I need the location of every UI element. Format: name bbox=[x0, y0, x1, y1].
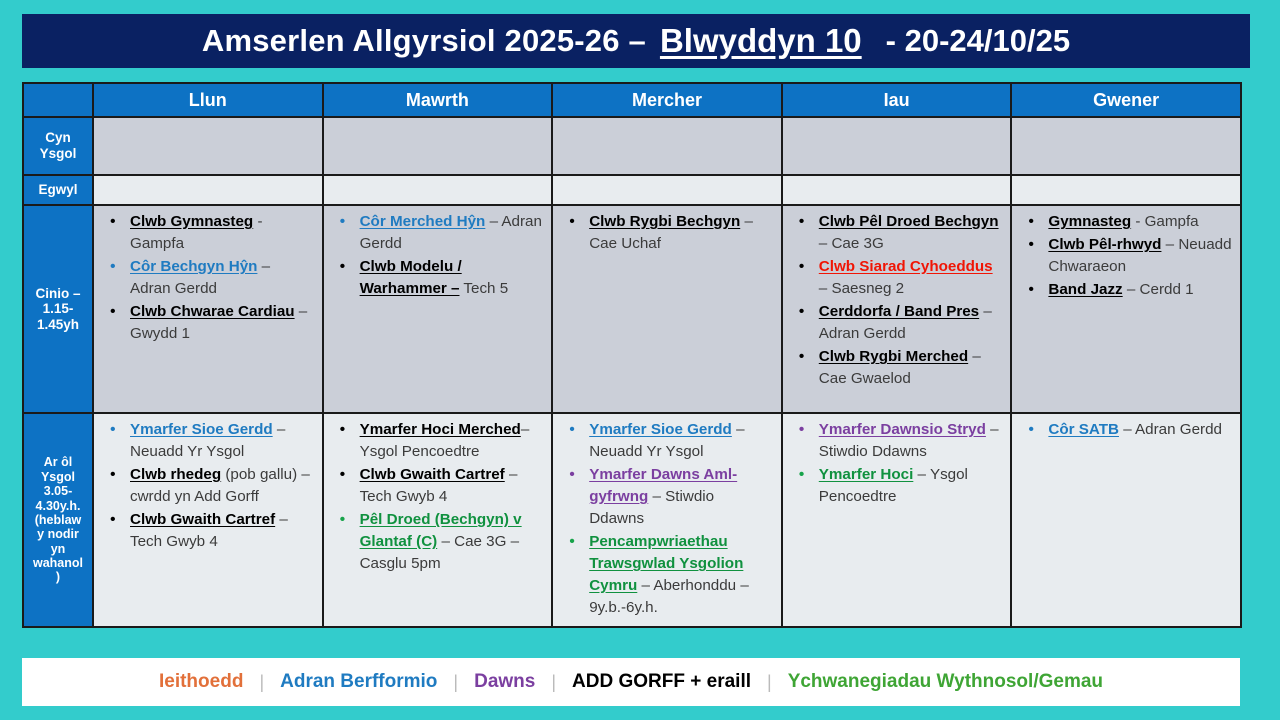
time-label-line: Egwyl bbox=[27, 182, 89, 198]
activity-item[interactable]: Clwb Gwaith Cartref – Tech Gwyb 4 bbox=[332, 464, 544, 508]
activity-name: Clwb Pêl Droed Bechgyn bbox=[819, 213, 999, 230]
cell-llun-3: Ymarfer Sioe Gerdd – Neuadd Yr YsgolClwb… bbox=[93, 413, 323, 627]
activity-item[interactable]: Gymnasteg - Gampfa bbox=[1020, 211, 1232, 233]
cell-mercher-2: Clwb Rygbi Bechgyn – Cae Uchaf bbox=[552, 205, 782, 413]
cell-gwener-1 bbox=[1011, 175, 1241, 205]
time-label-line: Cinio – bbox=[27, 286, 89, 302]
activity-name: Ymarfer Sioe Gerdd bbox=[589, 421, 732, 438]
time-label-line: Ysgol bbox=[27, 146, 89, 162]
activity-item[interactable]: Ymarfer Hoci – Ysgol Pencoedtre bbox=[791, 464, 1003, 508]
activity-item[interactable]: Ymarfer Sioe Gerdd – Neuadd Yr Ysgol bbox=[102, 419, 314, 463]
activity-item[interactable]: Clwb Siarad Cyhoeddus – Saesneg 2 bbox=[791, 256, 1003, 300]
table-row: Ar ôlYsgol3.05-4.30y.h.(heblawy nodirynw… bbox=[23, 413, 1241, 627]
activity-list: Ymarfer Sioe Gerdd – Neuadd Yr YsgolYmar… bbox=[559, 419, 775, 619]
table-row: Egwyl bbox=[23, 175, 1241, 205]
title-bar: Amserlen Allgyrsiol 2025-26 – Blwyddyn 1… bbox=[22, 14, 1250, 68]
time-label-line: 1.45yh bbox=[27, 317, 89, 333]
corner-cell bbox=[23, 83, 93, 117]
activity-detail: Tech 5 bbox=[459, 280, 508, 297]
activity-item[interactable]: Clwb rhedeg (pob gallu) – cwrdd yn Add G… bbox=[102, 464, 314, 508]
activity-name: Clwb rhedeg bbox=[130, 466, 221, 483]
activity-item[interactable]: Clwb Gymnasteg - Gampfa bbox=[102, 211, 314, 255]
activity-name: Côr Bechgyn Hŷn bbox=[130, 258, 257, 275]
activity-name: Clwb Pêl-rhwyd bbox=[1048, 236, 1161, 253]
activity-name: Clwb Rygbi Bechgyn bbox=[589, 213, 740, 230]
cell-llun-2: Clwb Gymnasteg - GampfaCôr Bechgyn Hŷn –… bbox=[93, 205, 323, 413]
activity-item[interactable]: Pêl Droed (Bechgyn) v Glantaf (C) – Cae … bbox=[332, 509, 544, 575]
activity-name: Clwb Siarad Cyhoeddus bbox=[819, 258, 993, 275]
cell-iau-0 bbox=[782, 117, 1012, 175]
activity-list: Ymarfer Dawnsio Stryd – Stiwdio DdawnsYm… bbox=[789, 419, 1005, 508]
activity-list: Côr Merched Hŷn – Adran GerddClwb Modelu… bbox=[330, 211, 546, 300]
legend-item-3: ADD GORFF + eraill bbox=[556, 671, 767, 693]
title-main: Amserlen Allgyrsiol 2025-26 – bbox=[202, 23, 646, 59]
time-label-line: Ysgol bbox=[27, 470, 89, 484]
activity-name: Côr Merched Hŷn bbox=[360, 213, 486, 230]
time-label-3: Ar ôlYsgol3.05-4.30y.h.(heblawy nodirynw… bbox=[23, 413, 93, 627]
activity-item[interactable]: Côr Merched Hŷn – Adran Gerdd bbox=[332, 211, 544, 255]
activity-detail: – Saesneg 2 bbox=[819, 280, 904, 297]
activity-item[interactable]: Band Jazz – Cerdd 1 bbox=[1020, 279, 1232, 301]
time-label-1: Egwyl bbox=[23, 175, 93, 205]
legend-item-2: Dawns bbox=[458, 671, 551, 693]
cell-mercher-1 bbox=[552, 175, 782, 205]
activity-item[interactable]: Clwb Modelu / Warhammer – Tech 5 bbox=[332, 256, 544, 300]
activity-item[interactable]: Ymarfer Dawnsio Stryd – Stiwdio Ddawns bbox=[791, 419, 1003, 463]
legend-bar: Ieithoedd|Adran Berfformio|Dawns|ADD GOR… bbox=[22, 658, 1240, 706]
activity-item[interactable]: Clwb Pêl Droed Bechgyn – Cae 3G bbox=[791, 211, 1003, 255]
activity-name: Clwb Gymnasteg bbox=[130, 213, 253, 230]
day-header-iau: Iau bbox=[782, 83, 1012, 117]
cell-iau-2: Clwb Pêl Droed Bechgyn – Cae 3GClwb Siar… bbox=[782, 205, 1012, 413]
time-label-line: y nodir bbox=[27, 527, 89, 541]
activity-item[interactable]: Ymarfer Hoci Merched– Ysgol Pencoedtre bbox=[332, 419, 544, 463]
activity-list: Ymarfer Sioe Gerdd – Neuadd Yr YsgolClwb… bbox=[100, 419, 316, 553]
activity-list: Ymarfer Hoci Merched– Ysgol PencoedtreCl… bbox=[330, 419, 546, 575]
day-header-llun: Llun bbox=[93, 83, 323, 117]
activity-name: Côr SATB bbox=[1048, 421, 1119, 438]
activity-detail: – Adran Gerdd bbox=[1119, 421, 1222, 438]
timetable-page: Amserlen Allgyrsiol 2025-26 – Blwyddyn 1… bbox=[0, 0, 1280, 720]
activity-name: Ymarfer Dawnsio Stryd bbox=[819, 421, 986, 438]
activity-item[interactable]: Côr Bechgyn Hŷn – Adran Gerdd bbox=[102, 256, 314, 300]
cell-gwener-3: Côr SATB – Adran Gerdd bbox=[1011, 413, 1241, 627]
cell-llun-0 bbox=[93, 117, 323, 175]
table-header-row: Llun Mawrth Mercher Iau Gwener bbox=[23, 83, 1241, 117]
title-year-group: Blwyddyn 10 bbox=[660, 22, 862, 60]
activity-item[interactable]: Clwb Pêl-rhwyd – Neuadd Chwaraeon bbox=[1020, 234, 1232, 278]
time-label-line: ) bbox=[27, 570, 89, 584]
activity-name: Clwb Rygbi Merched bbox=[819, 348, 968, 365]
time-label-line: yn bbox=[27, 542, 89, 556]
cell-mercher-3: Ymarfer Sioe Gerdd – Neuadd Yr YsgolYmar… bbox=[552, 413, 782, 627]
cell-llun-1 bbox=[93, 175, 323, 205]
activity-name: Clwb Gwaith Cartref bbox=[130, 511, 275, 528]
cell-mercher-0 bbox=[552, 117, 782, 175]
table-body: CynYsgolEgwylCinio –1.15-1.45yhClwb Gymn… bbox=[23, 117, 1241, 627]
title-dates: - 20-24/10/25 bbox=[886, 23, 1070, 59]
legend-item-1: Adran Berfformio bbox=[264, 671, 453, 693]
cell-gwener-0 bbox=[1011, 117, 1241, 175]
activity-list: Gymnasteg - GampfaClwb Pêl-rhwyd – Neuad… bbox=[1018, 211, 1234, 301]
activity-item[interactable]: Cerddorfa / Band Pres – Adran Gerdd bbox=[791, 301, 1003, 345]
activity-name: Clwb Gwaith Cartref bbox=[360, 466, 505, 483]
cell-mawrth-0 bbox=[323, 117, 553, 175]
activity-list: Clwb Pêl Droed Bechgyn – Cae 3GClwb Siar… bbox=[789, 211, 1005, 390]
activity-item[interactable]: Clwb Rygbi Bechgyn – Cae Uchaf bbox=[561, 211, 773, 255]
time-label-line: Cyn bbox=[27, 130, 89, 146]
activity-name: Gymnasteg bbox=[1048, 213, 1131, 230]
activity-name: Ymarfer Hoci bbox=[819, 466, 914, 483]
activity-item[interactable]: Ymarfer Dawns Aml-gyfrwng – Stiwdio Ddaw… bbox=[561, 464, 773, 530]
activity-item[interactable]: Clwb Gwaith Cartref – Tech Gwyb 4 bbox=[102, 509, 314, 553]
cell-gwener-2: Gymnasteg - GampfaClwb Pêl-rhwyd – Neuad… bbox=[1011, 205, 1241, 413]
activity-item[interactable]: Pencampwriaethau Trawsgwlad Ysgolion Cym… bbox=[561, 531, 773, 619]
activity-name: Clwb Modelu / Warhammer – bbox=[360, 258, 462, 297]
day-header-mercher: Mercher bbox=[552, 83, 782, 117]
day-header-gwener: Gwener bbox=[1011, 83, 1241, 117]
cell-mawrth-3: Ymarfer Hoci Merched– Ysgol PencoedtreCl… bbox=[323, 413, 553, 627]
activity-list: Côr SATB – Adran Gerdd bbox=[1018, 419, 1234, 441]
activity-name: Ymarfer Sioe Gerdd bbox=[130, 421, 273, 438]
activity-detail: – Cerdd 1 bbox=[1123, 281, 1194, 298]
activity-detail: - Gampfa bbox=[1131, 213, 1199, 230]
activity-item[interactable]: Ymarfer Sioe Gerdd – Neuadd Yr Ysgol bbox=[561, 419, 773, 463]
time-label-line: 3.05- bbox=[27, 484, 89, 498]
time-label-0: CynYsgol bbox=[23, 117, 93, 175]
activity-item[interactable]: Clwb Rygbi Merched – Cae Gwaelod bbox=[791, 346, 1003, 390]
time-label-line: 4.30y.h. bbox=[27, 499, 89, 513]
legend-item-4: Ychwanegiadau Wythnosol/Gemau bbox=[772, 671, 1119, 693]
activity-name: Ymarfer Hoci Merched bbox=[360, 421, 521, 438]
activity-name: Clwb Chwarae Cardiau bbox=[130, 303, 295, 320]
cell-mawrth-2: Côr Merched Hŷn – Adran GerddClwb Modelu… bbox=[323, 205, 553, 413]
table-row: CynYsgol bbox=[23, 117, 1241, 175]
timetable: Llun Mawrth Mercher Iau Gwener CynYsgolE… bbox=[22, 82, 1242, 628]
cell-mawrth-1 bbox=[323, 175, 553, 205]
activity-item[interactable]: Côr SATB – Adran Gerdd bbox=[1020, 419, 1232, 441]
activity-list: Clwb Gymnasteg - GampfaCôr Bechgyn Hŷn –… bbox=[100, 211, 316, 345]
activity-name: Band Jazz bbox=[1048, 281, 1122, 298]
activity-item[interactable]: Clwb Chwarae Cardiau – Gwydd 1 bbox=[102, 301, 314, 345]
time-label-line: Ar ôl bbox=[27, 455, 89, 469]
activity-list: Clwb Rygbi Bechgyn – Cae Uchaf bbox=[559, 211, 775, 255]
time-label-2: Cinio –1.15-1.45yh bbox=[23, 205, 93, 413]
time-label-line: (heblaw bbox=[27, 513, 89, 527]
time-label-line: 1.15- bbox=[27, 301, 89, 317]
table-row: Cinio –1.15-1.45yhClwb Gymnasteg - Gampf… bbox=[23, 205, 1241, 413]
time-label-line: wahanol bbox=[27, 556, 89, 570]
cell-iau-3: Ymarfer Dawnsio Stryd – Stiwdio DdawnsYm… bbox=[782, 413, 1012, 627]
legend-item-0: Ieithoedd bbox=[143, 671, 259, 693]
activity-name: Cerddorfa / Band Pres bbox=[819, 303, 979, 320]
activity-detail: – Cae 3G bbox=[819, 235, 884, 252]
cell-iau-1 bbox=[782, 175, 1012, 205]
day-header-mawrth: Mawrth bbox=[323, 83, 553, 117]
